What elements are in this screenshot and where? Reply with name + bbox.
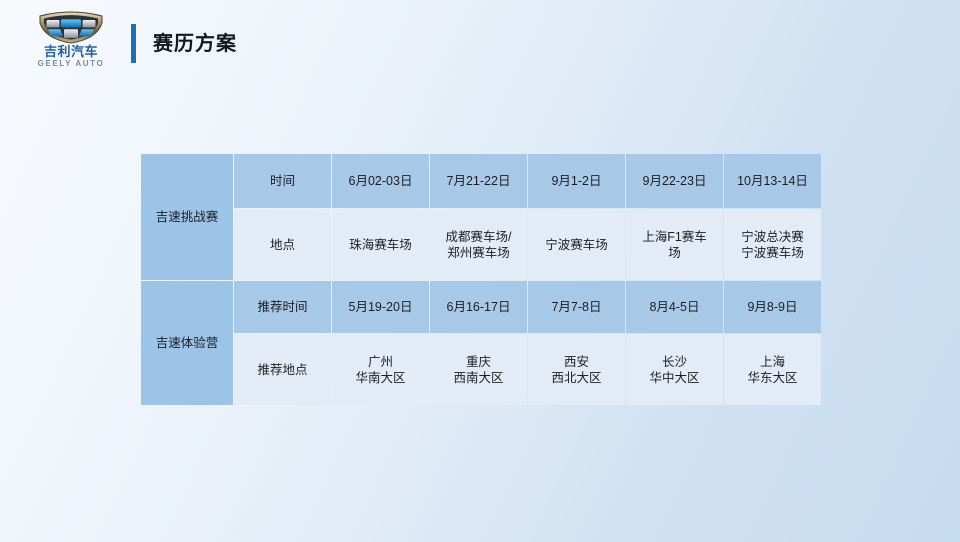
cell-rec-time-2: 6月16-17日 (430, 281, 527, 333)
logo-name-en: GEELY AUTO (38, 59, 105, 69)
row-label-rec-venue: 推荐地点 (234, 334, 331, 405)
calendar-table: 吉速挑战赛 时间 6月02-03日 7月21-22日 9月1-2日 9月22-2… (140, 153, 822, 406)
page-title: 赛历方案 (153, 31, 237, 57)
row-label-venue: 地点 (234, 209, 331, 280)
cell-rec-venue-4: 长沙 华中大区 (626, 334, 723, 405)
cell-time-3: 9月1-2日 (528, 154, 625, 208)
row-label-time: 时间 (234, 154, 331, 208)
cell-venue-1: 珠海赛车场 (332, 209, 429, 280)
geely-shield-emblem-icon (38, 10, 104, 44)
cell-rec-time-5: 9月8-9日 (724, 281, 821, 333)
cell-time-4: 9月22-23日 (626, 154, 723, 208)
cell-venue-5: 宁波总决赛 宁波赛车场 (724, 209, 821, 280)
geely-logo: 吉利汽车 GEELY AUTO (33, 10, 109, 72)
cell-rec-time-1: 5月19-20日 (332, 281, 429, 333)
cell-venue-2: 成都赛车场/ 郑州赛车场 (430, 209, 527, 280)
table-row: 吉速体验营 推荐时间 5月19-20日 6月16-17日 7月7-8日 8月4-… (141, 281, 821, 333)
group-label-camp: 吉速体验营 (141, 281, 233, 405)
title-accent-bar (131, 24, 136, 63)
cell-venue-4: 上海F1赛车 场 (626, 209, 723, 280)
cell-time-2: 7月21-22日 (430, 154, 527, 208)
cell-time-5: 10月13-14日 (724, 154, 821, 208)
logo-name-cn: 吉利汽车 (44, 45, 98, 59)
table-row: 地点 珠海赛车场 成都赛车场/ 郑州赛车场 宁波赛车场 上海F1赛车 场 宁波总… (141, 209, 821, 280)
row-label-rec-time: 推荐时间 (234, 281, 331, 333)
cell-rec-time-3: 7月7-8日 (528, 281, 625, 333)
cell-rec-venue-1: 广州 华南大区 (332, 334, 429, 405)
page-header: 吉利汽车 GEELY AUTO 赛历方案 (0, 0, 960, 96)
cell-time-1: 6月02-03日 (332, 154, 429, 208)
table-row: 推荐地点 广州 华南大区 重庆 西南大区 西安 西北大区 长沙 华中大区 上海 … (141, 334, 821, 405)
group-label-challenge: 吉速挑战赛 (141, 154, 233, 280)
cell-venue-3: 宁波赛车场 (528, 209, 625, 280)
cell-rec-time-4: 8月4-5日 (626, 281, 723, 333)
cell-rec-venue-2: 重庆 西南大区 (430, 334, 527, 405)
cell-rec-venue-5: 上海 华东大区 (724, 334, 821, 405)
table-row: 吉速挑战赛 时间 6月02-03日 7月21-22日 9月1-2日 9月22-2… (141, 154, 821, 208)
cell-rec-venue-3: 西安 西北大区 (528, 334, 625, 405)
